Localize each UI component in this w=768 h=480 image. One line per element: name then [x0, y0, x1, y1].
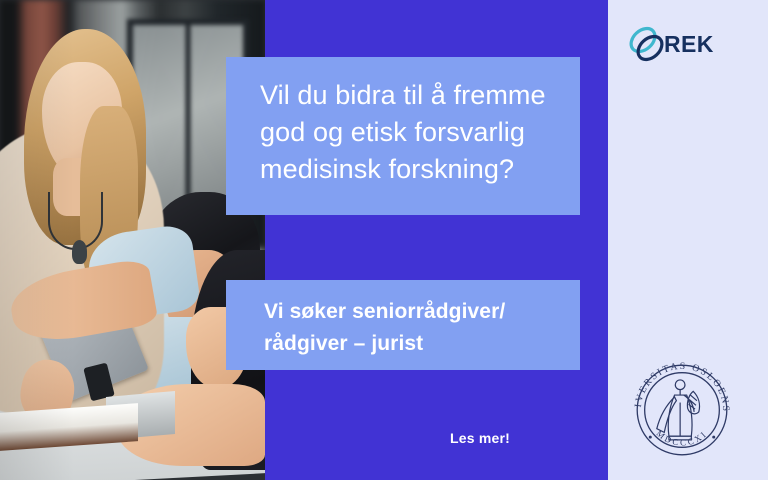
rek-logo[interactable]: REK — [624, 22, 724, 66]
rek-wordmark: REK — [664, 31, 714, 58]
headline-line-2: god og etisk forsvarlig — [260, 114, 552, 151]
uio-seal-logo[interactable]: UNIVERSITAS OSLOENSIS MDCCCXI — [624, 354, 740, 466]
headline-panel: Vil du bidra til å fremme god og etisk f… — [226, 57, 580, 215]
headline-line-1: Vil du bidra til å fremme — [260, 77, 552, 114]
recruitment-banner: REK UNIVERSITAS OSLOENSIS MDCCCXI — [0, 0, 768, 480]
uio-seal-outer-text: UNIVERSITAS OSLOENSIS — [624, 354, 731, 413]
read-more-link[interactable]: Les mer! — [0, 430, 580, 446]
brand-sidebar: REK UNIVERSITAS OSLOENSIS MDCCCXI — [608, 0, 768, 480]
job-title-line-1: Vi søker seniorrådgiver/ — [264, 296, 552, 328]
headline-line-3: medisinsk forskning? — [260, 151, 552, 188]
job-title-line-2: rådgiver – jurist — [264, 328, 552, 360]
job-title-panel: Vi søker seniorrådgiver/ rådgiver – juri… — [226, 280, 580, 370]
